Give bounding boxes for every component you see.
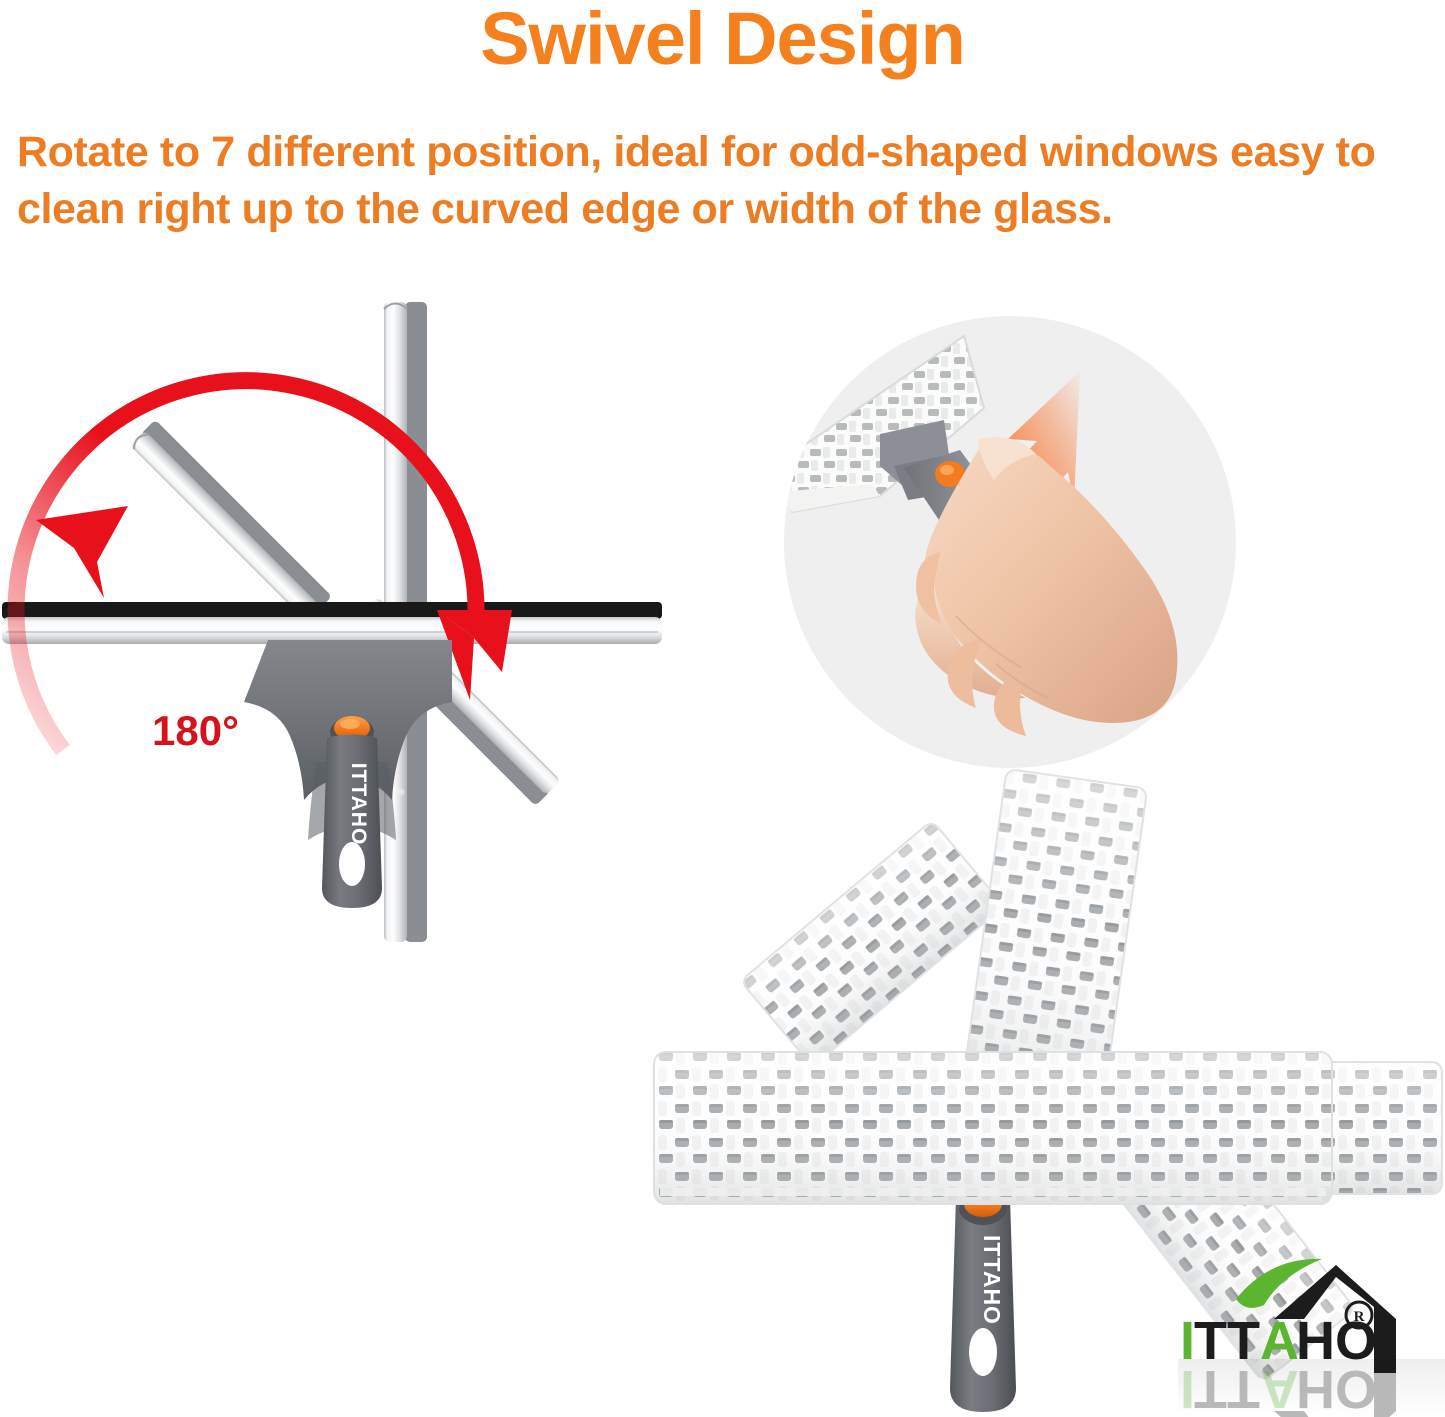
- page-title: Swivel Design: [0, 2, 1445, 76]
- page-subtitle: Rotate to 7 different position, ideal fo…: [17, 124, 1442, 238]
- svg-text:®: ®: [396, 789, 406, 796]
- handle-grip: ITTAHO ®: [950, 1194, 1041, 1412]
- squeegee-blade-diagonal-upper-left: [130, 420, 332, 622]
- swivel-rotation-diagram: ITTAHO ® 180°: [0, 280, 700, 980]
- svg-text:®: ®: [1030, 1262, 1041, 1270]
- handle-brand-text: ITTAHO: [979, 1235, 1005, 1325]
- rotation-angle-label: 180°: [152, 707, 239, 754]
- logo-reflection: I TT A HO: [1178, 1357, 1445, 1417]
- squeegee-blade-horizontal-primary: [2, 602, 662, 644]
- logo-mark: R I TT A HO: [1180, 1259, 1396, 1373]
- microfiber-pad-main-horizontal: [654, 1052, 1332, 1204]
- microfiber-pad-upper-left: [741, 820, 1005, 1066]
- hand-grip-photo-circle: [784, 316, 1236, 768]
- handle-brand-text: ITTAHO: [347, 763, 370, 846]
- brand-logo: R I TT A HO I TT A HO: [1178, 1243, 1445, 1417]
